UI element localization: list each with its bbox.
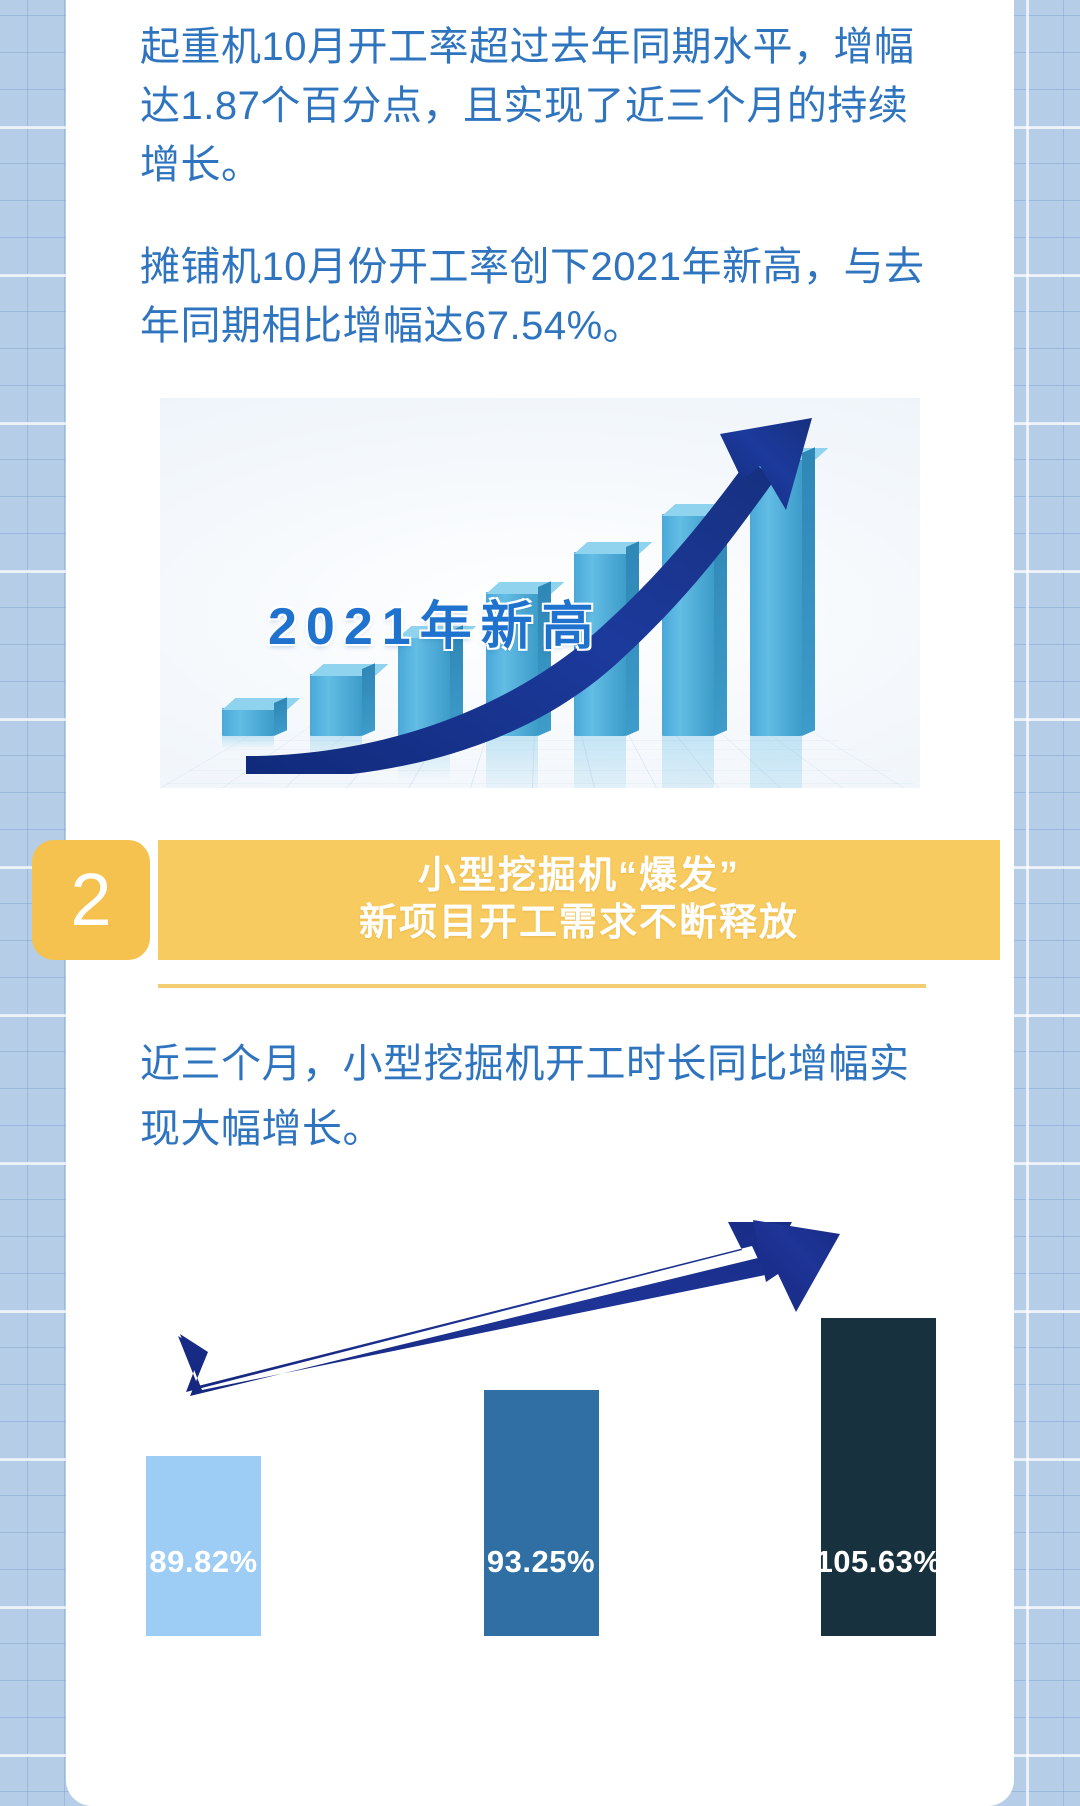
chart-bar: 93.25% bbox=[484, 1390, 599, 1636]
chart-bar-reflection bbox=[310, 736, 362, 764]
section-title-line-1: 小型挖掘机“爆发” bbox=[418, 854, 740, 899]
section-title-line-2: 新项目开工需求不断释放 bbox=[359, 901, 799, 946]
chart-bar bbox=[222, 708, 274, 736]
chart-bar bbox=[310, 674, 362, 736]
chart-bar-value-label: 89.82% bbox=[149, 1544, 257, 1636]
section-number-badge: 2 bbox=[32, 840, 150, 960]
paragraph-mini-excavator-hours: 近三个月，小型挖掘机开工时长同比增幅实现大幅增长。 bbox=[66, 988, 1014, 1162]
chart-bar-value-label: 105.63% bbox=[816, 1544, 942, 1636]
chart-bar-group: 89.82% 93.25% 105.63% bbox=[146, 1316, 936, 1636]
section-title-banner: 小型挖掘机“爆发” 新项目开工需求不断释放 bbox=[158, 840, 1000, 960]
chart-bar-value-label: 93.25% bbox=[487, 1544, 595, 1636]
section-two-header: 2 小型挖掘机“爆发” 新项目开工需求不断释放 bbox=[66, 838, 1014, 962]
paragraph-crane-startup-rate: 起重机10月开工率超过去年同期水平，增幅达1.87个百分点，且实现了近三个月的持… bbox=[66, 0, 1014, 196]
chart-annotation-2021-new-high: 2021年新高 bbox=[268, 584, 603, 659]
chart-bar bbox=[662, 514, 714, 736]
paragraph-paver-startup-rate: 摊铺机10月份开工率创下2021年新高，与去年同期相比增幅达67.54%。 bbox=[66, 196, 1014, 356]
chart-3d-columns-2021-high: 2021年新高 bbox=[160, 398, 920, 788]
chart-bar-reflection bbox=[398, 736, 450, 781]
chart-bar bbox=[750, 458, 802, 736]
chart-bar-reflection bbox=[750, 736, 802, 788]
chart-bar: 89.82% bbox=[146, 1456, 261, 1636]
chart-bar-reflection bbox=[662, 736, 714, 788]
chart-bar: 105.63% bbox=[821, 1318, 936, 1636]
chart-bar-reflection bbox=[222, 736, 274, 749]
chart-bar-reflection bbox=[574, 736, 626, 788]
chart-mini-excavator-growth: 89.82% 93.25% 105.63% bbox=[110, 1216, 970, 1636]
chart-bar-reflection bbox=[486, 736, 538, 788]
content-card: 起重机10月开工率超过去年同期水平，增幅达1.87个百分点，且实现了近三个月的持… bbox=[66, 0, 1014, 1806]
